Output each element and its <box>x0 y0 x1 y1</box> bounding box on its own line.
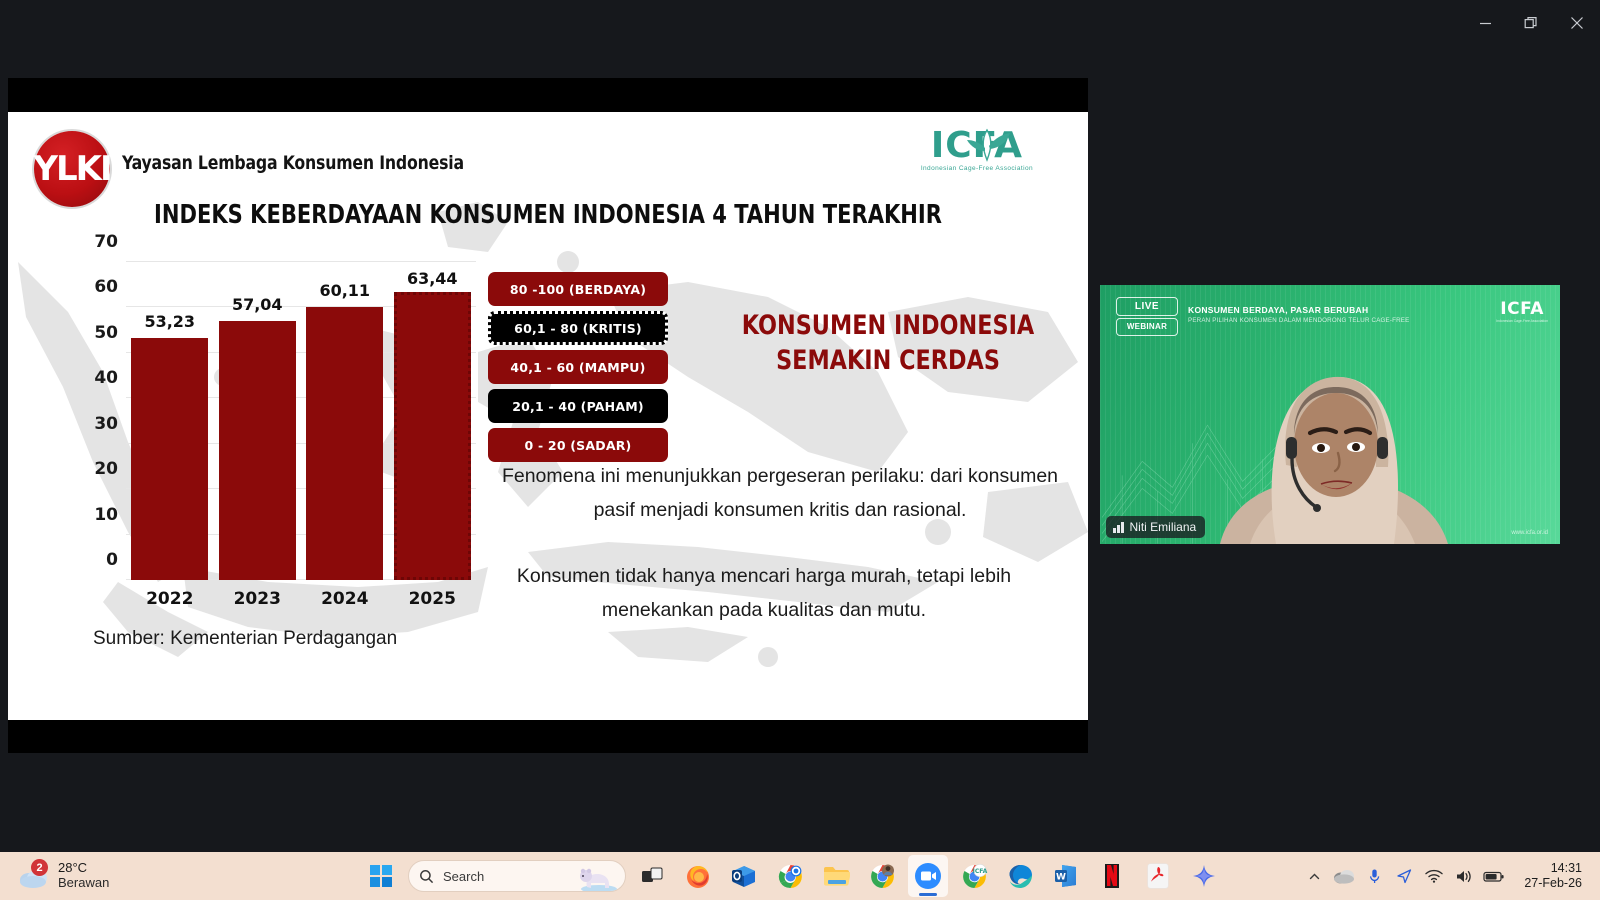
search-icon <box>419 869 434 884</box>
weather-widget[interactable]: 2 28°C Berawan <box>0 861 300 891</box>
search-placeholder: Search <box>443 869 484 884</box>
chart-bar: 63,44 <box>394 292 471 580</box>
slide-headline: KONSUMEN INDONESIA SEMAKIN CERDAS <box>722 308 1053 378</box>
clock-time: 14:31 <box>1524 861 1582 876</box>
video-icfa-tagline: Indonesian Cage-Free Association <box>1496 319 1548 323</box>
video-icfa-wordmark: ICFA <box>1496 301 1548 318</box>
taskbar-icon-edge[interactable] <box>1000 855 1040 897</box>
legend-pill: 60,1 - 80 (KRITIS) <box>488 311 668 345</box>
taskbar-icon-acrobat[interactable] <box>1138 855 1178 897</box>
taskbar-icon-task-view[interactable] <box>632 855 672 897</box>
organization-name: Yayasan Lembaga Konsumen Indonesia <box>122 152 464 174</box>
chart-bar-wrapper: 60,11 <box>306 262 383 580</box>
chart-x-axis-labels: 2022202320242025 <box>126 584 476 614</box>
chart-bar-wrapper: 63,44 <box>394 262 471 580</box>
taskbar-icon-zoom[interactable] <box>908 855 948 897</box>
live-badge-line-2: WEBINAR <box>1121 322 1173 332</box>
onedrive-icon[interactable] <box>1330 860 1358 892</box>
chart-bar-value-label: 53,23 <box>144 312 195 331</box>
chart-y-tick-label: 60 <box>94 277 118 297</box>
location-icon[interactable] <box>1390 860 1418 892</box>
participant-video-tile[interactable]: LIVE WEBINAR KONSUMEN BERDAYA, PASAR BER… <box>1100 285 1560 544</box>
chart-x-tick-label: 2023 <box>219 589 296 609</box>
live-webinar-badge: LIVE WEBINAR <box>1116 297 1178 336</box>
video-icfa-logo: ICFA Indonesian Cage-Free Association <box>1496 301 1548 323</box>
taskbar-icon-file-explorer[interactable] <box>816 855 856 897</box>
legend-pill: 20,1 - 40 (PAHAM) <box>488 389 668 423</box>
notification-badge: 2 <box>31 859 48 876</box>
chart-y-tick-label: 10 <box>94 505 118 525</box>
taskbar-icon-chrome-profile[interactable] <box>862 855 902 897</box>
system-tray: 14:31 27-Feb-26 <box>1300 852 1600 900</box>
chart-y-tick-label: 40 <box>94 368 118 388</box>
participant-name-chip: Niti Emiliana <box>1106 516 1205 538</box>
headline-line-1: KONSUMEN INDONESIA <box>742 310 1034 341</box>
taskbar-icon-firefox[interactable] <box>678 855 718 897</box>
taskbar-icon-netflix[interactable] <box>1092 855 1132 897</box>
slide-paragraph-1: Fenomena ini menunjukkan pergeseran peri… <box>500 460 1060 527</box>
chart-plot-area: 01020304050607053,2357,0460,1163,44 <box>126 262 476 580</box>
taskbar-icon-chrome-meet[interactable] <box>770 855 810 897</box>
chart-bars: 53,2357,0460,1163,44 <box>126 262 476 580</box>
icfa-wordmark-text: ICFA <box>931 125 1023 166</box>
volume-icon[interactable] <box>1450 860 1478 892</box>
microphone-icon[interactable] <box>1360 860 1388 892</box>
chart-x-tick-label: 2024 <box>306 589 383 609</box>
icfa-logo-word: ICFA <box>921 128 1033 164</box>
headline-line-2: SEMAKIN CERDAS <box>776 345 1000 376</box>
taskbar-icon-word[interactable]: W <box>1046 855 1086 897</box>
webinar-title-subtitle: PERAN PILIHAN KONSUMEN DALAM MENDORONG T… <box>1188 317 1418 324</box>
search-input[interactable]: Search <box>408 860 626 892</box>
slide-paragraph-2: Konsumen tidak hanya mencari harga murah… <box>484 560 1044 627</box>
chart-y-tick-label: 70 <box>94 232 118 252</box>
start-button[interactable] <box>360 855 402 897</box>
slide-title: INDEKS KEBERDAYAAN KONSUMEN INDONESIA 4 … <box>62 200 1034 230</box>
window-titlebar <box>0 0 1600 46</box>
taskbar-icon-copilot[interactable] <box>1184 855 1224 897</box>
chart-source: Sumber: Kementerian Perdagangan <box>93 628 397 650</box>
chart-bar: 60,11 <box>306 307 383 580</box>
legend-pill: 0 - 20 (SADAR) <box>488 428 668 462</box>
wifi-icon[interactable] <box>1420 860 1448 892</box>
icfa-tagline: Indonesian Cage-Free Association <box>921 165 1033 172</box>
bar-chart: 01020304050607053,2357,0460,1163,44 2022… <box>86 254 476 614</box>
minimize-button[interactable] <box>1462 0 1508 46</box>
index-legend: 80 -100 (BERDAYA)60,1 - 80 (KRITIS)40,1 … <box>488 272 668 467</box>
svg-text:W: W <box>1056 873 1066 883</box>
chart-bar-wrapper: 53,23 <box>131 262 208 580</box>
live-badge-line-1: LIVE <box>1121 301 1173 312</box>
windows-taskbar: 2 28°C Berawan <box>0 852 1600 900</box>
participant-name: Niti Emiliana <box>1130 520 1197 534</box>
chart-bar: 53,23 <box>131 338 208 580</box>
polar-bear-icon <box>577 863 619 892</box>
cloud-icon: 2 <box>18 863 50 889</box>
webinar-title-main: KONSUMEN BERDAYA, PASAR BERUBAH <box>1188 305 1418 315</box>
chart-bar-value-label: 57,04 <box>232 295 283 314</box>
taskbar-icon-chrome-icfa[interactable]: ICFA <box>954 855 994 897</box>
ylki-logo: YLKI <box>34 131 110 207</box>
chart-x-tick-label: 2022 <box>131 589 208 609</box>
svg-text:ICFA: ICFA <box>972 868 987 875</box>
chart-bar: 57,04 <box>219 321 296 580</box>
close-button[interactable] <box>1554 0 1600 46</box>
ylki-logo-text: YLKI <box>33 149 110 189</box>
chart-y-tick-label: 0 <box>106 550 118 570</box>
weather-condition: Berawan <box>58 876 109 891</box>
chart-y-tick-label: 20 <box>94 459 118 479</box>
weather-temperature: 28°C <box>58 861 109 876</box>
screen-share-stage: YLKI Yayasan Lembaga Konsumen Indonesia … <box>8 78 1088 753</box>
presentation-slide: YLKI Yayasan Lembaga Konsumen Indonesia … <box>8 112 1088 720</box>
desktop-root: YLKI Yayasan Lembaga Konsumen Indonesia … <box>0 0 1600 900</box>
webinar-banner-title: KONSUMEN BERDAYA, PASAR BERUBAH PERAN PI… <box>1188 305 1418 324</box>
icfa-logo: ICFA Indonesian Cage-Free Association <box>921 128 1033 172</box>
video-website-url: www.icfa.or.id <box>1511 530 1548 536</box>
legend-pill: 40,1 - 60 (MAMPU) <box>488 350 668 384</box>
clock-date: 27-Feb-26 <box>1524 876 1582 891</box>
taskbar-icon-outlook[interactable] <box>724 855 764 897</box>
legend-pill: 80 -100 (BERDAYA) <box>488 272 668 306</box>
taskbar-center-zone: Search <box>360 855 1224 897</box>
chart-bar-value-label: 63,44 <box>407 269 458 288</box>
chart-bar-wrapper: 57,04 <box>219 262 296 580</box>
clock-widget[interactable]: 14:31 27-Feb-26 <box>1518 858 1588 894</box>
restore-button[interactable] <box>1508 0 1554 46</box>
audio-level-icon <box>1113 522 1124 533</box>
chart-y-tick-label: 30 <box>94 414 118 434</box>
chart-x-tick-label: 2025 <box>394 589 471 609</box>
show-hidden-icons-button[interactable] <box>1300 860 1328 892</box>
chart-bar-value-label: 60,11 <box>319 281 370 300</box>
chart-y-tick-label: 50 <box>94 323 118 343</box>
battery-icon[interactable] <box>1480 860 1508 892</box>
